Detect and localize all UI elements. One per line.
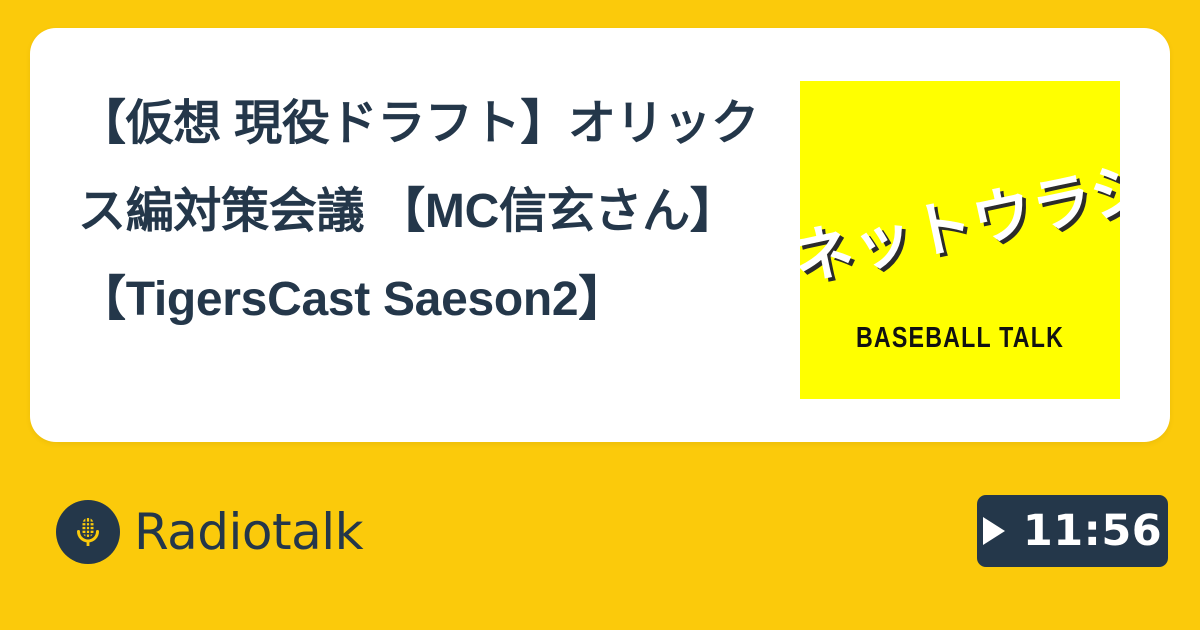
play-triangle-icon xyxy=(983,517,1005,545)
episode-card-inner: 【仮想 現役ドラフト】オリックス編対策会議 【MC信玄さん】【TigersCas… xyxy=(30,28,1170,442)
cover-art-thumbnail: ネットウラジオ BASEBALL TALK xyxy=(800,81,1120,399)
episode-title: 【仮想 現役ドラフト】オリックス編対策会議 【MC信玄さん】【TigersCas… xyxy=(78,80,790,344)
cover-art-kana-text: ネットウラジオ xyxy=(800,157,1120,291)
play-duration-badge[interactable]: 11:56 xyxy=(977,495,1168,567)
microphone-icon xyxy=(56,500,120,564)
radiotalk-brand: Radiotalk xyxy=(56,500,363,564)
footer-bar: Radiotalk 11:56 xyxy=(0,442,1200,630)
duration-label: 11:56 xyxy=(1023,510,1162,553)
cover-art-subtitle-text: BASEBALL TALK xyxy=(832,324,1088,353)
share-card-canvas: 【仮想 現役ドラフト】オリックス編対策会議 【MC信玄さん】【TigersCas… xyxy=(0,0,1200,630)
radiotalk-wordmark: Radiotalk xyxy=(134,507,363,557)
episode-card: 【仮想 現役ドラフト】オリックス編対策会議 【MC信玄さん】【TigersCas… xyxy=(30,28,1170,442)
